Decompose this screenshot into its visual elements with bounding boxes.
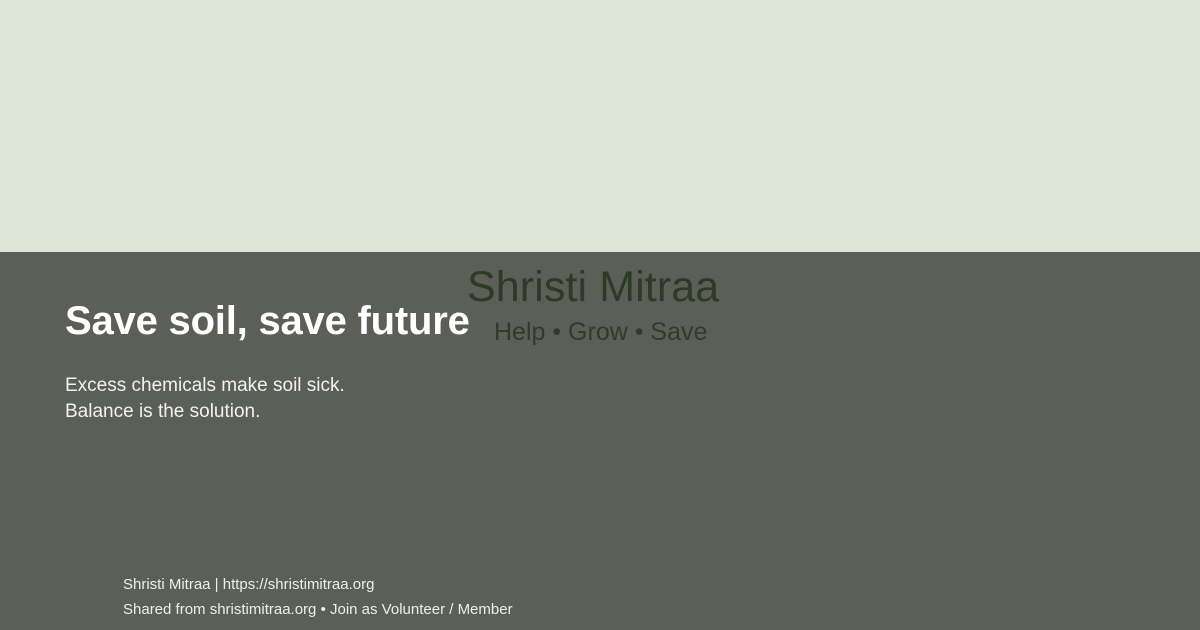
footer: Shristi Mitraa | https://shristimitraa.o… (123, 572, 513, 622)
body-copy: Excess chemicals make soil sick. Balance… (65, 373, 345, 425)
brand-name: Shristi Mitraa (467, 266, 719, 309)
body-copy-line: Balance is the solution. (65, 399, 345, 425)
social-share-card: Shristi Mitraa Help • Grow • Save Save s… (0, 0, 1200, 630)
footer-share-note: Shared from shristimitraa.org • Join as … (123, 597, 513, 622)
brand-tagline: Help • Grow • Save (494, 320, 719, 345)
headline: Save soil, save future (65, 301, 470, 341)
hero-image-band (0, 0, 1200, 252)
body-copy-line: Excess chemicals make soil sick. (65, 373, 345, 399)
brand-lockup: Shristi Mitraa Help • Grow • Save (467, 266, 719, 345)
footer-attribution: Shristi Mitraa | https://shristimitraa.o… (123, 572, 513, 597)
